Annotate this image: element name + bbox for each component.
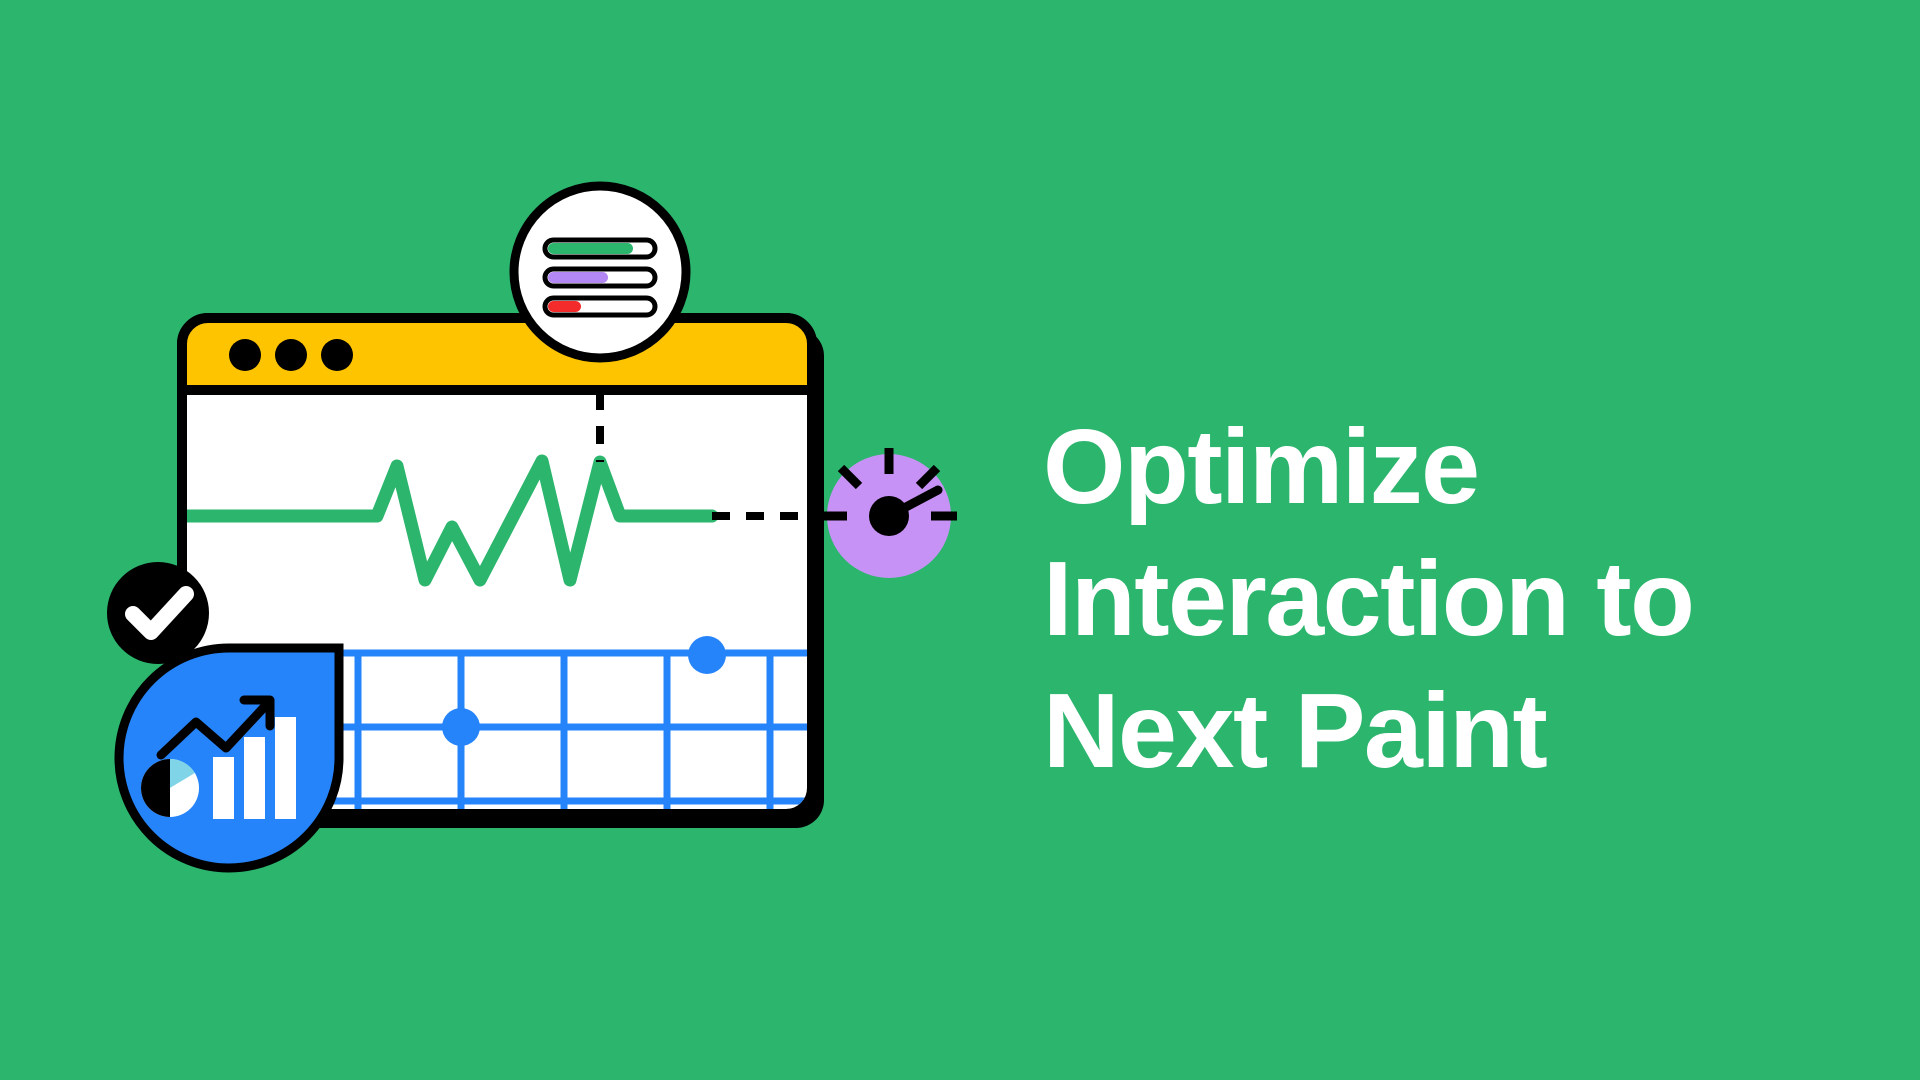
progress-bar-purple-fill <box>548 272 608 283</box>
analytics-bar-3 <box>275 717 296 819</box>
analytics-bar-2 <box>244 737 265 819</box>
window-dot-3[interactable] <box>321 339 353 371</box>
analytics-bar-1 <box>213 757 234 819</box>
progress-bar-green-fill <box>548 243 633 254</box>
grid-point-b[interactable] <box>688 636 726 674</box>
hero-banner: Optimize Interaction to Next Paint <box>0 0 1920 1080</box>
page-title-line-3: Next Paint <box>1043 665 1863 797</box>
analytics-pie <box>141 759 199 817</box>
performance-dashboard-illustration <box>0 0 1060 1080</box>
window-dot-2[interactable] <box>275 339 307 371</box>
check-badge[interactable] <box>107 562 209 664</box>
page-title: Optimize Interaction to Next Paint <box>1043 401 1863 797</box>
page-title-line-1: Optimize <box>1043 401 1863 533</box>
progress-bar-red-fill <box>548 301 581 312</box>
analytics-badge[interactable] <box>119 648 339 868</box>
page-title-line-2: Interaction to <box>1043 533 1863 665</box>
speed-gauge[interactable] <box>821 448 957 578</box>
window-dot-1[interactable] <box>229 339 261 371</box>
grid-point-a[interactable] <box>442 708 480 746</box>
gauge-hub <box>869 496 909 536</box>
metrics-progress-badge[interactable] <box>514 186 686 358</box>
